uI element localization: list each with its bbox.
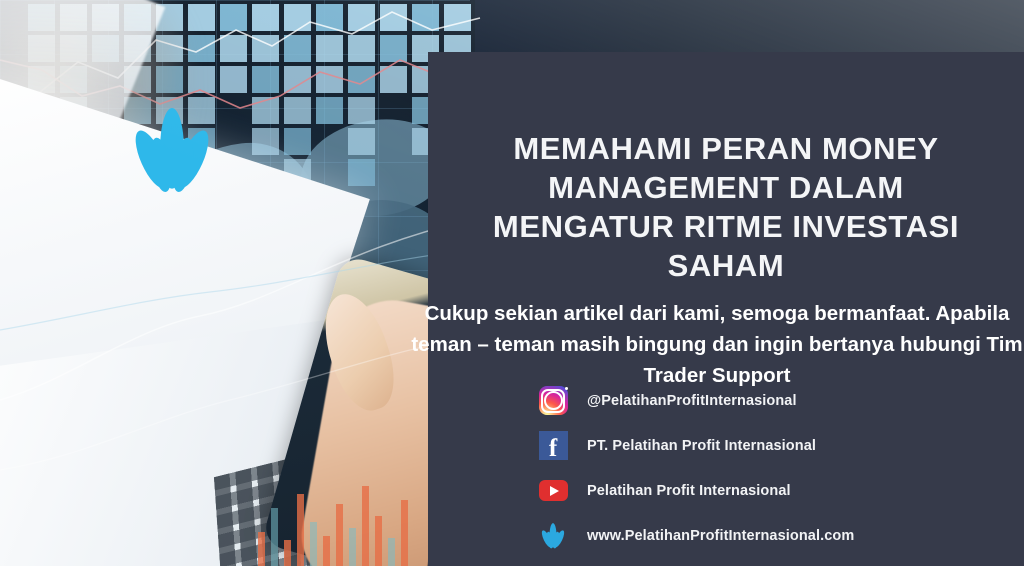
youtube-icon[interactable] [538,476,568,506]
contact-row-instagram[interactable]: @PelatihanProfitInternasional [538,378,1008,423]
moving-average-curves [0,0,470,566]
website-url: www.PelatihanProfitInternasional.com [587,528,854,544]
contact-row-facebook[interactable]: f PT. Pelatihan Profit Internasional [538,423,1008,468]
closing-message: Cukup sekian artikel dari kami, semoga b… [410,298,1024,391]
instagram-handle: @PelatihanProfitInternasional [587,393,797,409]
page-title: MEMAHAMI PERAN MONEY MANAGEMENT DALAM ME… [464,129,988,285]
contact-list: @PelatihanProfitInternasional f PT. Pela… [538,378,1008,558]
contact-row-website[interactable]: www.PelatihanProfitInternasional.com [538,513,1008,558]
website-lotus-icon[interactable] [538,521,568,551]
content-panel: MEMAHAMI PERAN MONEY MANAGEMENT DALAM ME… [428,52,1024,566]
lotus-logo [126,108,218,196]
facebook-icon[interactable]: f [538,431,568,461]
instagram-icon[interactable] [538,386,568,416]
facebook-page-name: PT. Pelatihan Profit Internasional [587,438,816,454]
youtube-channel-name: Pelatihan Profit Internasional [587,483,791,499]
contact-row-youtube[interactable]: Pelatihan Profit Internasional [538,468,1008,513]
poster-canvas: MEMAHAMI PERAN MONEY MANAGEMENT DALAM ME… [0,0,1024,566]
